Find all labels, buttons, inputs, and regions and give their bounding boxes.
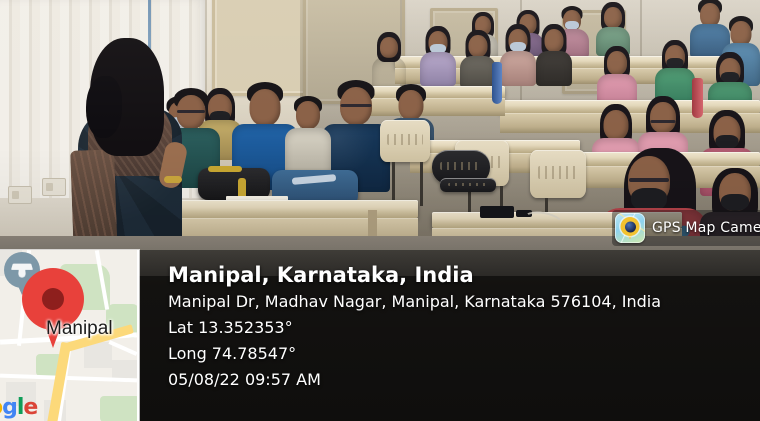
water-bottle	[492, 62, 502, 104]
map-thumbnail[interactable]: Manipal ogle	[0, 250, 139, 421]
student	[420, 26, 456, 86]
chair-dark	[440, 178, 496, 192]
student	[460, 30, 496, 88]
student	[500, 24, 536, 86]
bag-strap	[208, 166, 242, 172]
gps-map-camera-watermark: GPS Map Camera	[612, 210, 760, 246]
chair	[530, 150, 586, 198]
wall-socket	[8, 186, 32, 204]
google-attribution: ogle	[0, 395, 37, 420]
latitude-value: Lat 13.352353°	[168, 315, 752, 341]
google-letter-e: e	[23, 395, 37, 420]
screenshot-root: GPS Map Camera	[0, 0, 760, 421]
map-place-label: Manipal	[46, 318, 113, 340]
timestamp-value: 05/08/22 09:57 AM	[168, 367, 752, 393]
instructor-bangle	[164, 176, 182, 183]
instructor	[64, 30, 194, 255]
gps-map-camera-label: GPS Map Camera	[652, 220, 760, 236]
front-desk	[178, 200, 418, 218]
wall-socket	[42, 178, 66, 196]
camera-lens-pin-icon	[621, 217, 640, 236]
geotag-text-block: Manipal, Karnataka, India Manipal Dr, Ma…	[168, 250, 752, 421]
instructor-braid	[86, 76, 122, 138]
location-title: Manipal, Karnataka, India	[168, 261, 752, 289]
geotag-stamp: Manipal ogle Manipal, Karnataka, India M…	[0, 250, 760, 421]
location-address: Manipal Dr, Madhav Nagar, Manipal, Karna…	[168, 289, 752, 315]
gps-map-camera-icon	[615, 213, 645, 243]
longitude-value: Long 74.78547°	[168, 341, 752, 367]
student	[536, 24, 572, 86]
chair-leg	[420, 162, 423, 206]
google-letter-g: g	[2, 395, 17, 420]
device	[480, 206, 514, 218]
student	[597, 46, 637, 108]
chair	[380, 120, 430, 162]
map-park	[100, 396, 139, 421]
